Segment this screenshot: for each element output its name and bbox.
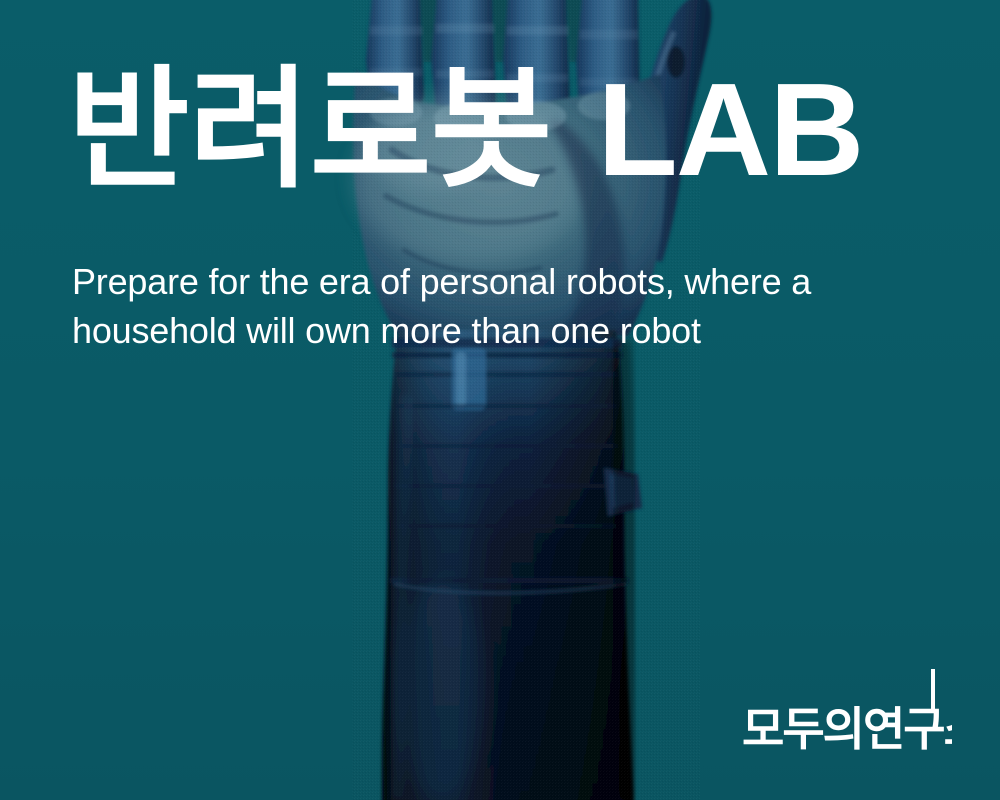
brand-logo[interactable]: 모두의연구소 xyxy=(742,663,952,758)
subtitle: Prepare for the era of personal robots, … xyxy=(72,258,932,356)
brand-logo-text: 모두의연구소 xyxy=(742,702,952,756)
brand-logo-mark-stem xyxy=(931,669,935,709)
subtitle-line-2: household will own more than one robot xyxy=(72,307,932,356)
poster-canvas: 반려로봇 LAB Prepare for the era of personal… xyxy=(0,0,1000,800)
page-title-latin: LAB xyxy=(597,56,862,203)
page-title-korean: 반려로봇 xyxy=(68,53,597,207)
subtitle-line-1: Prepare for the era of personal robots, … xyxy=(72,258,932,307)
page-title: 반려로봇 LAB xyxy=(68,64,863,196)
